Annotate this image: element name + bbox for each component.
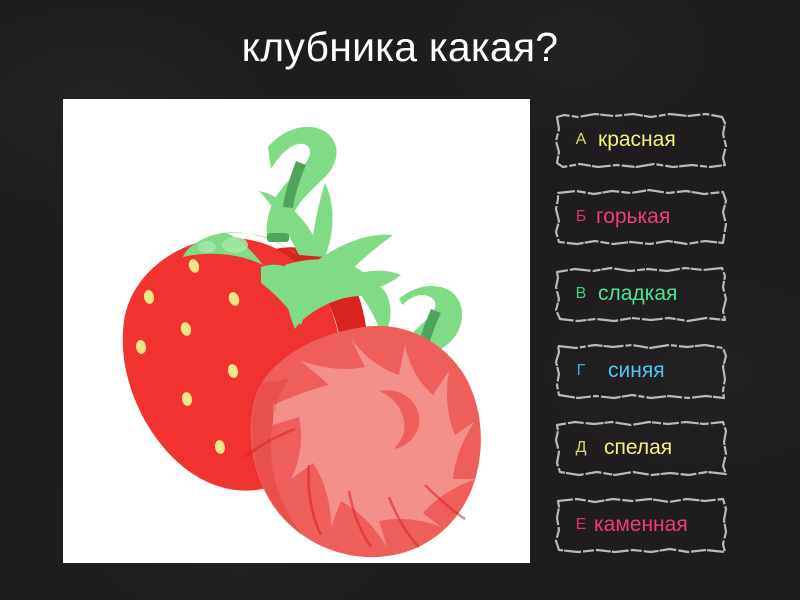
answer-option-text: спелая (604, 435, 672, 461)
answer-option-a[interactable]: А красная (554, 110, 728, 170)
answer-option-text: синяя (608, 358, 665, 384)
answer-option-letter: Б (566, 207, 596, 227)
answer-option-letter: Д (566, 438, 596, 458)
page-title: клубника какая? (0, 22, 800, 72)
answer-option-letter: Е (566, 515, 596, 535)
answer-option-e[interactable]: Е каменная (554, 495, 728, 555)
answer-option-g[interactable]: Г синяя (554, 341, 728, 401)
answer-option-letter: А (566, 130, 596, 150)
answer-option-v[interactable]: В сладкая (554, 264, 728, 324)
answer-option-text: каменная (594, 512, 688, 538)
answer-option-d[interactable]: Д спелая (554, 418, 728, 478)
answer-option-letter: В (566, 284, 596, 304)
strawberry-illustration (63, 99, 530, 563)
answer-option-b[interactable]: Б горькая (554, 187, 728, 247)
answer-option-text: красная (598, 127, 676, 153)
answer-option-text: сладкая (598, 281, 677, 307)
answer-options-list: А красная Б горькая В сладкая Г синяя (554, 110, 734, 572)
answer-option-letter: Г (566, 361, 596, 381)
quiz-slide: клубника какая? (0, 0, 800, 600)
question-image-panel (63, 99, 530, 563)
answer-option-text: горькая (596, 204, 670, 230)
